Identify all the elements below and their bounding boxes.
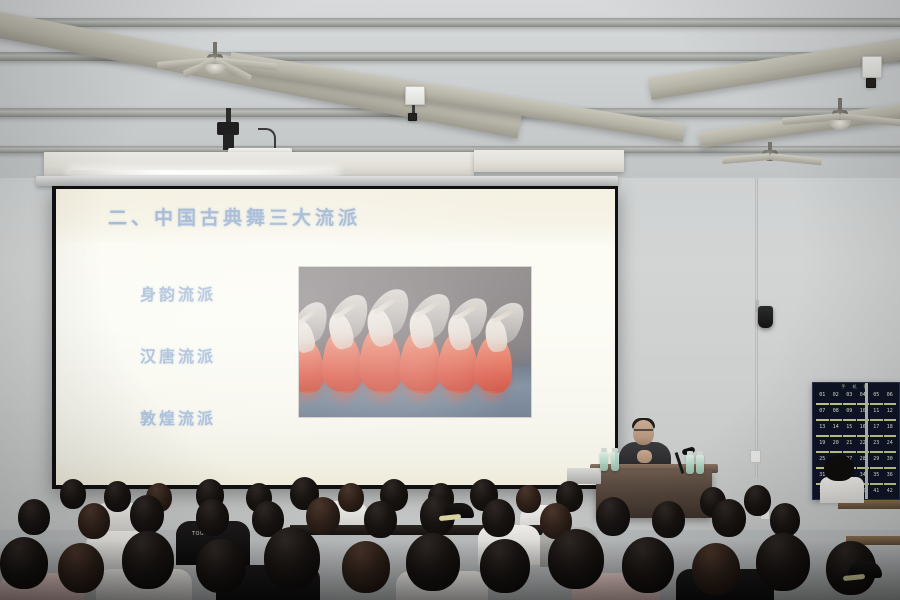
rack-pocket-number: 07	[816, 408, 829, 414]
rack-pocket-number: 24	[884, 440, 897, 446]
rack-pocket-number: 05	[870, 392, 883, 398]
wall-conduit	[755, 178, 758, 478]
slide-bullet-2: 汉唐流派	[140, 343, 216, 367]
rack-pocket-number: 11	[870, 408, 883, 414]
rack-pocket[interactable]: 13	[816, 422, 829, 437]
rack-pocket-number: 12	[884, 408, 897, 414]
rack-pocket[interactable]: 24	[884, 438, 897, 453]
junction-box	[405, 86, 425, 105]
rack-pocket[interactable]: 23	[870, 438, 883, 453]
rack-pocket-number: 23	[870, 440, 883, 446]
rack-pocket[interactable]: 01	[816, 390, 829, 405]
presentation-slide: 二、中国古典舞三大流派 身韵流派 汉唐流派 敦煌流派	[56, 189, 615, 485]
rack-pocket[interactable]: 15	[843, 422, 856, 437]
rack-pocket[interactable]: 07	[816, 406, 829, 421]
slide-bullet-1: 身韵流派	[140, 281, 216, 305]
rack-pocket[interactable]: 05	[870, 390, 883, 405]
rack-pocket-number: 03	[843, 392, 856, 398]
slide-bullet-list: 身韵流派 汉唐流派 敦煌流派	[140, 281, 216, 467]
rack-pocket-number: 29	[870, 456, 883, 462]
rack-pocket[interactable]: 17	[870, 422, 883, 437]
rack-pocket[interactable]: 09	[843, 406, 856, 421]
projection-screen: 二、中国古典舞三大流派 身韵流派 汉唐流派 敦煌流派	[52, 186, 618, 489]
rack-pocket[interactable]: 06	[884, 390, 897, 405]
rack-pocket[interactable]: 08	[830, 406, 843, 421]
power-outlet[interactable]	[750, 450, 761, 463]
audience: TOUCH	[0, 465, 900, 600]
ceiling	[0, 0, 900, 200]
ceiling-beam	[0, 18, 900, 27]
fluorescent-light	[474, 150, 624, 172]
slide-title: 二、中国古典舞三大流派	[108, 203, 361, 230]
rack-pocket[interactable]: 02	[830, 390, 843, 405]
rack-pocket-number: 15	[843, 424, 856, 430]
structural-beam	[229, 52, 686, 142]
rack-pocket[interactable]: 14	[830, 422, 843, 437]
slide-bullet-3: 敦煌流派	[140, 405, 216, 429]
fluorescent-light	[44, 152, 474, 177]
rack-pocket-number: 30	[884, 456, 897, 462]
conduit-fitting	[408, 113, 417, 121]
rack-pocket-number: 17	[870, 424, 883, 430]
rack-pocket[interactable]: 18	[884, 422, 897, 437]
rack-pocket[interactable]: 19	[816, 438, 829, 453]
junction-box	[862, 56, 882, 78]
conduit-fitting	[866, 78, 876, 88]
rack-pocket[interactable]: 21	[843, 438, 856, 453]
rack-pocket-number: 14	[830, 424, 843, 430]
rack-pocket-number: 08	[830, 408, 843, 414]
baseball-cap	[444, 503, 474, 518]
lecture-hall-photo: 二、中国古典舞三大流派 身韵流派 汉唐流派 敦煌流派	[0, 0, 900, 600]
baseball-cap	[848, 561, 882, 578]
rack-pocket[interactable]: 11	[870, 406, 883, 421]
rack-pocket-number: 20	[830, 440, 843, 446]
rack-pocket-number: 06	[884, 392, 897, 398]
rack-pocket-number: 02	[830, 392, 843, 398]
rack-pocket[interactable]: 03	[843, 390, 856, 405]
screen-roller-housing	[36, 176, 618, 186]
rack-pocket-number: 18	[884, 424, 897, 430]
rack-pocket-number: 13	[816, 424, 829, 430]
rack-pocket-number: 19	[816, 440, 829, 446]
rack-pocket[interactable]: 12	[884, 406, 897, 421]
rack-pocket[interactable]: 20	[830, 438, 843, 453]
rack-pocket-number: 01	[816, 392, 829, 398]
slide-dance-photo	[299, 267, 531, 417]
wall-speaker	[758, 306, 773, 328]
rack-pocket-number: 09	[843, 408, 856, 414]
rack-pocket-number: 21	[843, 440, 856, 446]
